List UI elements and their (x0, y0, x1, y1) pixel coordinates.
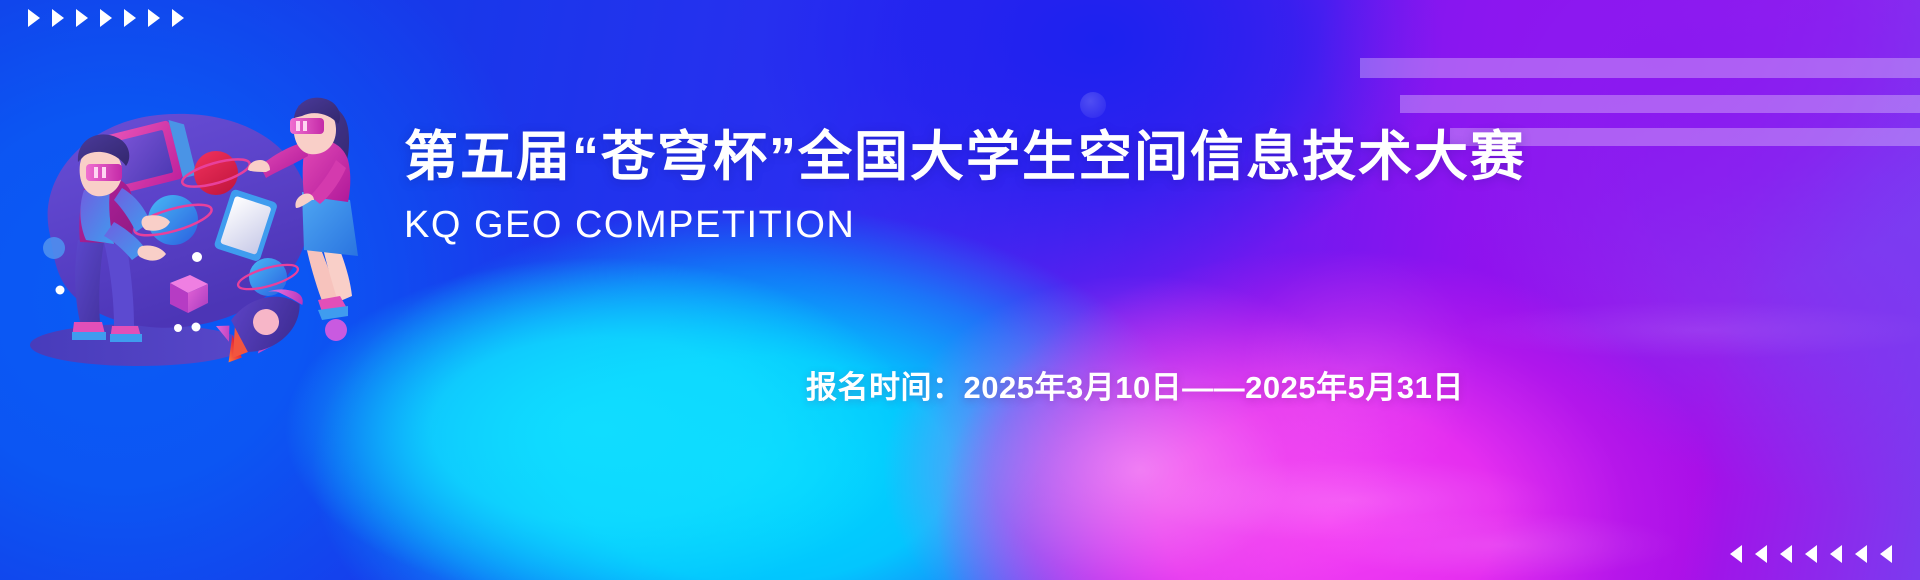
background-bubble-small (1080, 92, 1106, 118)
competition-banner: 第五届“苍穹杯”全国大学生空间信息技术大赛 KQ GEO COMPETITION… (0, 0, 1920, 580)
subtitle-english: KQ GEO COMPETITION (404, 204, 1526, 247)
star-dot (174, 324, 182, 332)
triangle-right-icon (124, 9, 136, 27)
banner-text-block: 第五届“苍穹杯”全国大学生空间信息技术大赛 KQ GEO COMPETITION (404, 126, 1526, 247)
triangle-right-icon (100, 9, 112, 27)
triangle-right-icon (76, 9, 88, 27)
triangle-right-icon (52, 9, 64, 27)
triangle-left-icon (1830, 545, 1842, 563)
stripe-1 (1360, 58, 1920, 78)
star-dot (43, 237, 65, 259)
page-title: 第五届“苍穹杯”全国大学生空间信息技术大赛 (404, 126, 1526, 188)
registration-period-text: 报名时间：2025年3月10日——2025年5月31日 (806, 362, 1464, 407)
triangle-left-icon (1855, 545, 1867, 563)
star-dot (325, 319, 347, 341)
triangle-right-icon (148, 9, 160, 27)
triangle-left-icon (1755, 545, 1767, 563)
triangle-right-icon (28, 9, 40, 27)
triangle-left-icon (1730, 545, 1742, 563)
triangle-left-icon (1880, 545, 1892, 563)
girl-skirt (302, 192, 358, 256)
triangle-left-icon (1805, 545, 1817, 563)
triangle-left-icon (1780, 545, 1792, 563)
star-dot (192, 323, 201, 332)
stripe-2 (1400, 95, 1920, 113)
boy-vr-goggles (86, 164, 122, 181)
vr-students-space-illustration (18, 60, 368, 380)
bottom-right-arrow-row (1730, 545, 1892, 563)
star-dot (56, 286, 65, 295)
star-dot (192, 252, 202, 262)
triangle-right-icon (172, 9, 184, 27)
girl-vr-goggles (290, 118, 324, 134)
top-left-arrow-row (28, 9, 184, 27)
